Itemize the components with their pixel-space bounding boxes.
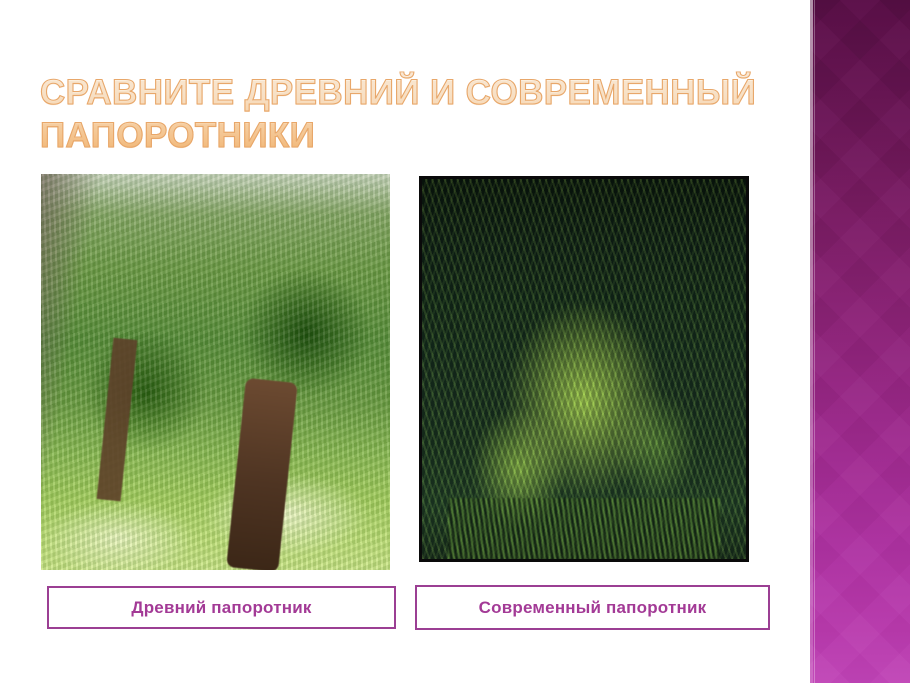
decorative-purple-band [810,0,910,683]
caption-label-modern-fern: Современный папоротник [479,598,707,618]
image-modern-fern [419,176,749,562]
page-title: Сравните древний и современный папоротни… [40,71,780,157]
caption-box-modern-fern: Современный папоротник [415,585,770,630]
image-ancient-fern [41,174,390,570]
band-inner-line [814,0,815,683]
slide-canvas: Сравните древний и современный папоротни… [0,0,910,683]
caption-box-ancient-fern: Древний папоротник [47,586,396,629]
band-highlight-edge [810,0,813,683]
diamond-pattern-overlay [810,0,910,683]
caption-label-ancient-fern: Древний папоротник [131,598,311,618]
